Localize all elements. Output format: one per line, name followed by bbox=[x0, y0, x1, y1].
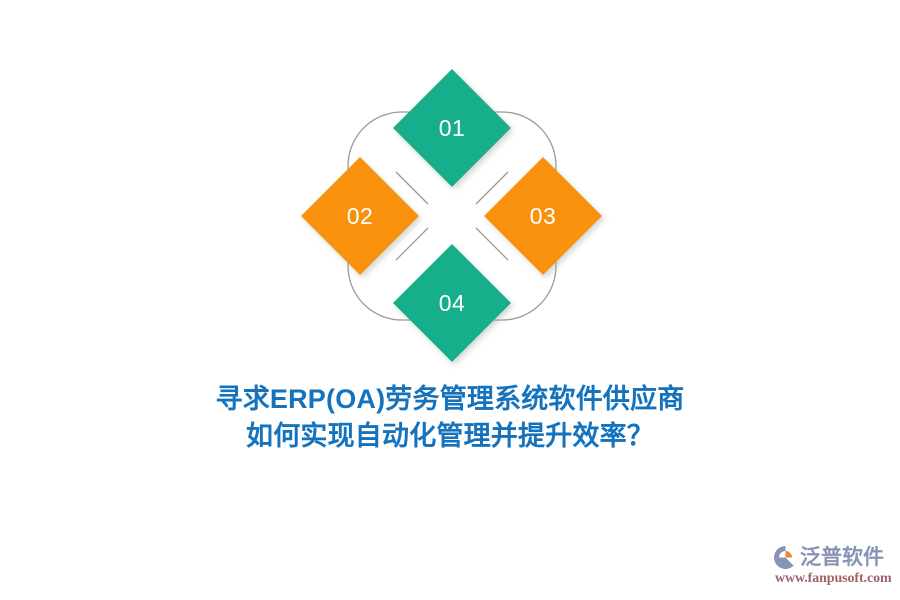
diagram-graphics bbox=[282, 46, 622, 386]
four-step-diamond-diagram: 01 02 03 04 bbox=[282, 46, 622, 386]
logo-wordmark: 泛普软件 bbox=[800, 547, 884, 568]
headline-line-1: 寻求ERP(OA)劳务管理系统软件供应商 bbox=[0, 381, 900, 418]
node-shape-03[interactable] bbox=[484, 157, 602, 275]
logo-top-row: 泛普软件 bbox=[773, 544, 884, 570]
logo-url: www.fanpusoft.com bbox=[775, 572, 892, 586]
fanpu-swoosh-icon bbox=[773, 545, 798, 570]
headline-line-2: 如何实现自动化管理并提升效率？ bbox=[0, 418, 900, 455]
node-shape-02[interactable] bbox=[301, 157, 419, 275]
poster-canvas: 01 02 03 04 寻求ERP(OA)劳务管理系统软件供应商 如何实现自动化… bbox=[0, 0, 900, 600]
node-shape-04[interactable] bbox=[393, 244, 511, 362]
node-shape-01[interactable] bbox=[393, 69, 511, 187]
headline: 寻求ERP(OA)劳务管理系统软件供应商 如何实现自动化管理并提升效率？ bbox=[0, 381, 900, 455]
brand-logo[interactable]: 泛普软件 www.fanpusoft.com bbox=[773, 540, 893, 592]
